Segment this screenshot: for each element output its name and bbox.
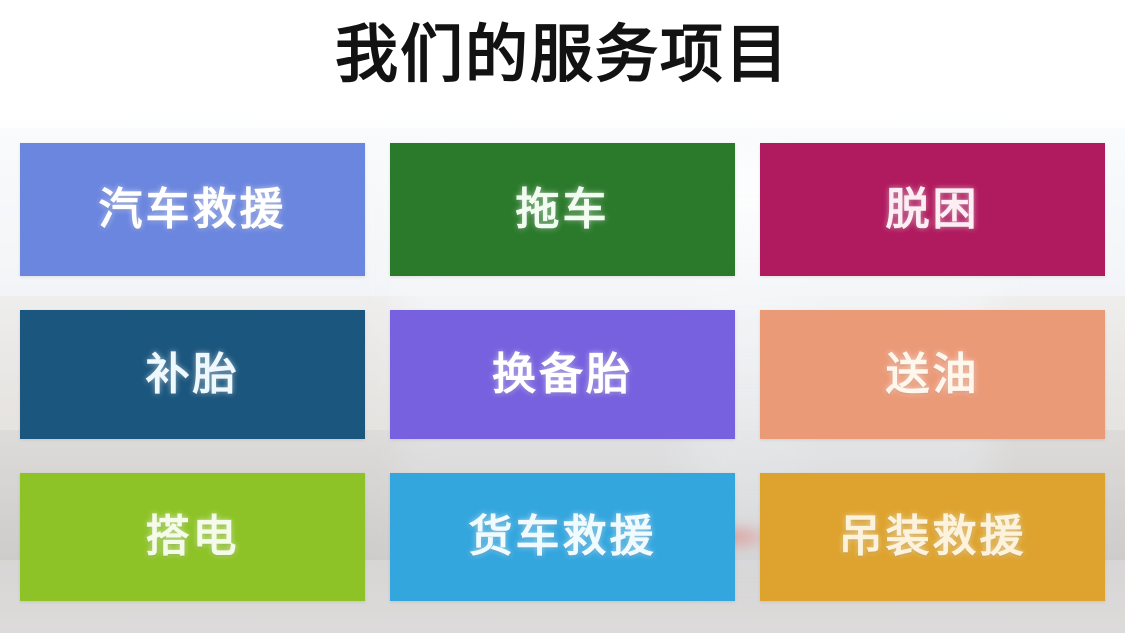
service-tile-extrication[interactable]: 脱困: [760, 143, 1105, 276]
service-tile-crane-rescue[interactable]: 吊装救援: [760, 473, 1105, 601]
service-tile-label: 货车救援: [469, 515, 657, 559]
service-tile-towing[interactable]: 拖车: [390, 143, 735, 276]
page-title: 我们的服务项目: [0, 23, 1125, 86]
service-tile-label: 汽车救援: [99, 188, 287, 232]
service-tile-label: 补胎: [146, 353, 240, 397]
service-tile-tire-repair[interactable]: 补胎: [20, 310, 365, 439]
service-tile-truck-rescue[interactable]: 货车救援: [390, 473, 735, 601]
service-tile-jump-start[interactable]: 搭电: [20, 473, 365, 601]
service-tile-label: 脱困: [886, 188, 980, 232]
service-poster: 我们的服务项目 汽车救援 拖车 脱困 补胎 换备胎 送油 搭电 货车救援 吊装救…: [0, 0, 1125, 633]
service-tile-label: 送油: [886, 353, 980, 397]
title-band: 我们的服务项目: [0, 0, 1125, 128]
service-tile-label: 吊装救援: [839, 515, 1027, 559]
service-tile-car-rescue[interactable]: 汽车救援: [20, 143, 365, 276]
service-tile-label: 换备胎: [492, 353, 633, 397]
service-tile-label: 拖车: [516, 188, 610, 232]
service-tile-spare-tire-change[interactable]: 换备胎: [390, 310, 735, 439]
service-tile-label: 搭电: [146, 515, 240, 559]
service-tile-fuel-delivery[interactable]: 送油: [760, 310, 1105, 439]
service-tile-grid: 汽车救援 拖车 脱困 补胎 换备胎 送油 搭电 货车救援 吊装救援: [20, 143, 1105, 601]
